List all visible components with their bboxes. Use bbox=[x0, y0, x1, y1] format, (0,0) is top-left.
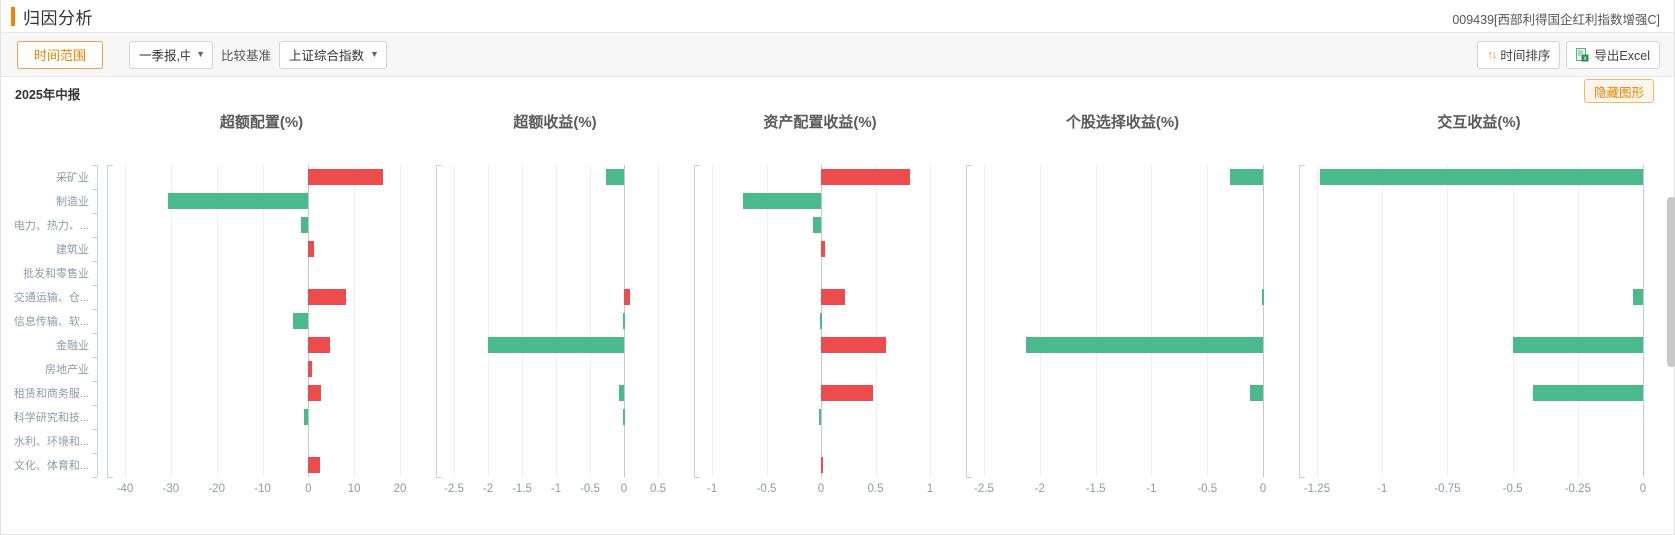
x-axis-tick-label: -2.5 bbox=[444, 483, 464, 495]
x-axis-tick-label: -0.5 bbox=[1197, 483, 1217, 495]
grid-line bbox=[522, 165, 523, 477]
export-excel-button[interactable]: x 导出Excel bbox=[1566, 41, 1660, 69]
x-axis-tick-label: -0.75 bbox=[1434, 483, 1460, 495]
updown-arrow-icon: ↑↓ bbox=[1487, 49, 1496, 61]
panel-axis-edge bbox=[966, 165, 967, 477]
period-label: 2025年中报 bbox=[15, 84, 80, 103]
chart-bar[interactable] bbox=[821, 241, 825, 257]
zero-line bbox=[1643, 165, 1644, 477]
grid-line bbox=[217, 165, 218, 477]
time-sort-button[interactable]: ↑↓ 时间排序 bbox=[1477, 41, 1560, 69]
page-title: 归因分析 bbox=[23, 4, 93, 29]
time-sort-button-label: 时间排序 bbox=[1500, 45, 1550, 64]
plot-area bbox=[1289, 165, 1669, 477]
export-excel-button-label: 导出Excel bbox=[1594, 45, 1650, 64]
x-axis-tick-label: -1.5 bbox=[512, 483, 532, 495]
chart-panel: 资产配置收益(%)-1-0.500.51 bbox=[684, 107, 956, 533]
y-axis-category-labels: 采矿业制造业电力、热力、...建筑业批发和零售业交通运输、仓...信息传输、软.… bbox=[1, 107, 97, 533]
plot-area bbox=[426, 165, 684, 477]
svg-text:x: x bbox=[1584, 56, 1587, 62]
page-title-wrap: 归因分析 bbox=[11, 4, 93, 29]
grid-line bbox=[488, 165, 489, 477]
chart-bar[interactable] bbox=[1250, 385, 1263, 401]
grid-line bbox=[1040, 165, 1041, 477]
grid-line bbox=[1578, 165, 1579, 477]
x-axis-tick-label: -40 bbox=[117, 483, 134, 495]
grid-line bbox=[263, 165, 264, 477]
y-axis-label: 金融业 bbox=[1, 337, 89, 353]
chart-bar[interactable] bbox=[821, 169, 910, 185]
chart-bar[interactable] bbox=[308, 241, 314, 257]
grid-line bbox=[984, 165, 985, 477]
x-axis-tick-label: 0.5 bbox=[868, 483, 884, 495]
benchmark-select-value: 上证综合指数 bbox=[289, 45, 364, 64]
x-axis-tick-label: 0 bbox=[818, 483, 824, 495]
chart-bar[interactable] bbox=[1230, 169, 1263, 185]
grid-line bbox=[658, 165, 659, 477]
benchmark-select[interactable]: 上证综合指数 ▼ bbox=[279, 41, 387, 69]
grid-line bbox=[767, 165, 768, 477]
chart-title: 个股选择收益(%) bbox=[956, 111, 1289, 132]
chart-bar[interactable] bbox=[308, 361, 312, 377]
x-axis-tick-label: 0 bbox=[1260, 483, 1266, 495]
hide-chart-button-label: 隐藏图形 bbox=[1594, 82, 1644, 101]
y-axis-label: 制造业 bbox=[1, 193, 89, 209]
grid-line bbox=[1317, 165, 1318, 477]
chart-bar[interactable] bbox=[1262, 289, 1264, 305]
y-axis-label: 水利、环境和... bbox=[1, 433, 89, 449]
chart-bar[interactable] bbox=[308, 385, 321, 401]
chart-bar[interactable] bbox=[293, 313, 308, 329]
grid-line bbox=[454, 165, 455, 477]
grid-line bbox=[712, 165, 713, 477]
chart-bar[interactable] bbox=[813, 217, 821, 233]
chart-bar[interactable] bbox=[1320, 169, 1643, 185]
panel-axis-cap bbox=[694, 477, 700, 478]
chart-bar[interactable] bbox=[619, 385, 624, 401]
x-axis-tick-label: 0 bbox=[1640, 483, 1646, 495]
sub-header: 2025年中报 隐藏图形 bbox=[1, 77, 1674, 107]
plot-area bbox=[97, 165, 426, 477]
chart-bar[interactable] bbox=[821, 289, 845, 305]
chart-bar[interactable] bbox=[624, 289, 630, 305]
grid-line bbox=[1151, 165, 1152, 477]
y-axis-label: 批发和零售业 bbox=[1, 265, 89, 281]
chart-title: 超额收益(%) bbox=[426, 111, 684, 132]
chart-panel: 个股选择收益(%)-2.5-2-1.5-1-0.50 bbox=[956, 107, 1289, 533]
y-axis-label: 信息传输、软... bbox=[1, 313, 89, 329]
chart-bar[interactable] bbox=[1513, 337, 1643, 353]
chart-panel: 超额配置(%)-40-30-20-1001020 bbox=[97, 107, 426, 533]
panel-axis-cap bbox=[694, 165, 700, 166]
x-axis-tick-label: -10 bbox=[254, 483, 271, 495]
toolbar-actions: ↑↓ 时间排序 x 导出Excel bbox=[1477, 41, 1660, 69]
chart-bar[interactable] bbox=[743, 193, 821, 209]
panel-axis-cap bbox=[966, 165, 972, 166]
time-range-button[interactable]: 时间范围 bbox=[17, 41, 103, 69]
grid-line bbox=[1096, 165, 1097, 477]
grid-line bbox=[1382, 165, 1383, 477]
y-axis-label: 科学研究和技... bbox=[1, 409, 89, 425]
grid-line bbox=[876, 165, 877, 477]
panel-axis-cap bbox=[1299, 165, 1305, 166]
x-axis-tick-label: -1.25 bbox=[1304, 483, 1330, 495]
chart-bar[interactable] bbox=[1533, 385, 1643, 401]
x-axis-tick-label: -0.5 bbox=[757, 483, 777, 495]
panel-axis-cap bbox=[107, 165, 113, 166]
grid-line bbox=[171, 165, 172, 477]
grid-line bbox=[1447, 165, 1448, 477]
vertical-scrollbar[interactable] bbox=[1667, 197, 1675, 367]
chart-bar[interactable] bbox=[606, 169, 624, 185]
x-axis-tick-label: 0 bbox=[305, 483, 311, 495]
panel-axis-edge bbox=[107, 165, 108, 477]
x-axis-tick-label: 10 bbox=[348, 483, 361, 495]
chart-bar[interactable] bbox=[308, 337, 330, 353]
hide-chart-button[interactable]: 隐藏图形 bbox=[1584, 79, 1654, 103]
chevron-down-icon: ▼ bbox=[370, 50, 379, 59]
y-axis-label: 电力、热力、... bbox=[1, 217, 89, 233]
x-axis-tick-label: -30 bbox=[163, 483, 180, 495]
x-axis-tick-label: 20 bbox=[394, 483, 407, 495]
chart-bar[interactable] bbox=[819, 409, 821, 425]
y-axis-label: 文化、体育和... bbox=[1, 457, 89, 473]
grid-line bbox=[354, 165, 355, 477]
attribution-analysis-page: 归因分析 009439[西部利得国企红利指数增强C] 时间范围 一季报,中报 ▼… bbox=[0, 0, 1675, 535]
chart-bar[interactable] bbox=[1633, 289, 1643, 305]
panel-axis-edge bbox=[436, 165, 437, 477]
chart-bar[interactable] bbox=[308, 457, 320, 473]
x-axis-tick-label: -20 bbox=[208, 483, 225, 495]
chart-bar[interactable] bbox=[168, 193, 308, 209]
panel-axis-cap bbox=[107, 477, 113, 478]
chart-bar[interactable] bbox=[623, 409, 625, 425]
zero-line bbox=[308, 165, 309, 477]
title-accent-bar bbox=[11, 7, 15, 26]
time-range-button-label: 时间范围 bbox=[34, 45, 86, 64]
chart-panel: 超额收益(%)-2.5-2-1.5-1-0.500.5 bbox=[426, 107, 684, 533]
chart-bar[interactable] bbox=[304, 409, 309, 425]
chart-bar[interactable] bbox=[623, 313, 625, 329]
chart-bar[interactable] bbox=[308, 169, 383, 185]
grid-line bbox=[556, 165, 557, 477]
y-axis-label: 采矿业 bbox=[1, 169, 89, 185]
chart-bar[interactable] bbox=[488, 337, 624, 353]
chart-bar[interactable] bbox=[821, 337, 886, 353]
y-axis-label: 建筑业 bbox=[1, 241, 89, 257]
grid-line bbox=[1513, 165, 1514, 477]
chart-bar[interactable] bbox=[820, 313, 822, 329]
grid-line bbox=[400, 165, 401, 477]
y-axis-label: 房地产业 bbox=[1, 361, 89, 377]
plot-area bbox=[956, 165, 1289, 477]
panel-axis-cap bbox=[966, 477, 972, 478]
chevron-down-icon: ▼ bbox=[196, 50, 205, 59]
chart-bar[interactable] bbox=[301, 217, 308, 233]
panel-axis-edge bbox=[1299, 165, 1300, 477]
report-period-select-value: 一季报,中报 bbox=[139, 45, 190, 64]
x-axis-tick-label: -1 bbox=[1146, 483, 1156, 495]
grid-line bbox=[590, 165, 591, 477]
grid-line bbox=[1207, 165, 1208, 477]
grid-line bbox=[930, 165, 931, 477]
page-header: 归因分析 009439[西部利得国企红利指数增强C] bbox=[1, 0, 1674, 33]
chart-bar[interactable] bbox=[308, 289, 346, 305]
chart-bar[interactable] bbox=[821, 457, 823, 473]
x-axis-tick-label: -0.5 bbox=[1503, 483, 1523, 495]
chart-bar[interactable] bbox=[1026, 337, 1263, 353]
x-axis-tick-label: -0.25 bbox=[1565, 483, 1591, 495]
chart-title: 超额配置(%) bbox=[97, 111, 426, 132]
zero-line bbox=[1263, 165, 1264, 477]
fund-code-label: 009439[西部利得国企红利指数增强C] bbox=[1452, 9, 1660, 28]
x-axis-tick-label: -2.5 bbox=[974, 483, 994, 495]
x-axis-tick-label: -2 bbox=[1035, 483, 1045, 495]
toolbar: 时间范围 一季报,中报 ▼ 比较基准 上证综合指数 ▼ ↑↓ 时间排序 bbox=[1, 33, 1674, 77]
report-period-select[interactable]: 一季报,中报 ▼ bbox=[129, 41, 213, 69]
x-axis-tick-label: -2 bbox=[483, 483, 493, 495]
chart-bar[interactable] bbox=[821, 385, 873, 401]
y-axis-label: 租赁和商务服... bbox=[1, 385, 89, 401]
charts-region: 采矿业制造业电力、热力、...建筑业批发和零售业交通运输、仓...信息传输、软.… bbox=[1, 107, 1675, 533]
panel-axis-cap bbox=[436, 165, 442, 166]
grid-line bbox=[125, 165, 126, 477]
chart-title: 资产配置收益(%) bbox=[684, 111, 956, 132]
panel-axis-cap bbox=[1299, 477, 1305, 478]
panel-axis-edge bbox=[694, 165, 695, 477]
panel-axis-cap bbox=[436, 477, 442, 478]
x-axis-tick-label: 1 bbox=[927, 483, 933, 495]
x-axis-tick-label: -1 bbox=[1377, 483, 1387, 495]
x-axis-tick-label: 0 bbox=[621, 483, 627, 495]
x-axis-tick-label: -1 bbox=[707, 483, 717, 495]
x-axis-tick-label: 0.5 bbox=[650, 483, 666, 495]
plot-area bbox=[684, 165, 956, 477]
chart-panel: 交互收益(%)-1.25-1-0.75-0.5-0.250 bbox=[1289, 107, 1669, 533]
y-axis-label: 交通运输、仓... bbox=[1, 289, 89, 305]
benchmark-label: 比较基准 bbox=[221, 45, 271, 64]
x-axis-tick-label: -0.5 bbox=[580, 483, 600, 495]
chart-title: 交互收益(%) bbox=[1289, 111, 1669, 132]
x-axis-tick-label: -1 bbox=[551, 483, 561, 495]
x-axis-tick-label: -1.5 bbox=[1086, 483, 1106, 495]
excel-icon: x bbox=[1576, 48, 1590, 62]
